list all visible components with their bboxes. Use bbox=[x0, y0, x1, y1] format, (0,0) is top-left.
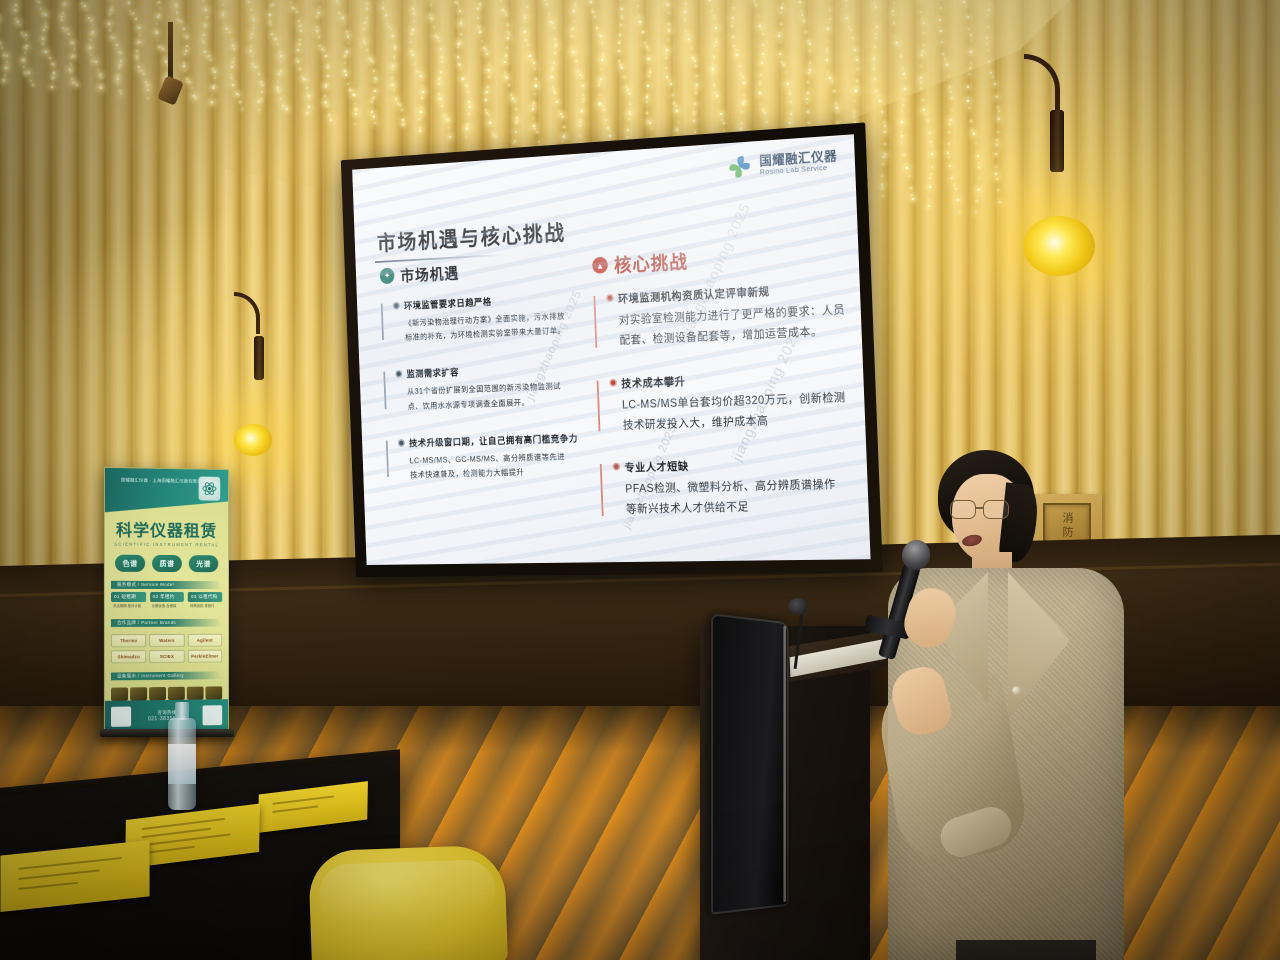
slide-title: 市场机遇与核心挑战 bbox=[376, 216, 566, 257]
banner-step-cap: 02 年租约 bbox=[150, 592, 184, 602]
banner-section-label-gallery: 设备展示 / Instrument Gallery bbox=[111, 671, 222, 680]
conference-room-photo: 消防栓箱 国耀融汇仪器 Rosino Lab Service 市场机遇与核心挑战 bbox=[0, 0, 1280, 960]
gallery-cell bbox=[206, 686, 223, 699]
banner-service-steps: 01 短租期 灵活周期 按月计费 02 年租约 长期优惠 含维保 03 以租代购… bbox=[105, 592, 228, 610]
banner-company-line: 国耀融汇仪器 · 上海国耀融汇仪器有限公司 bbox=[121, 477, 206, 484]
banner-section-text: 合作品牌 / Partner Brands bbox=[111, 620, 176, 626]
bullet-title: 环境监测机构资质认定评审新规 bbox=[618, 283, 770, 306]
brand-logo: SCIEX bbox=[149, 650, 184, 663]
bottle-label bbox=[168, 744, 196, 784]
list-item: 技术成本攀升 LC-MS/MS单台套均价超320万元，创新检测 技术研发投入大，… bbox=[596, 366, 851, 437]
banner-step-cap: 03 以租代购 bbox=[188, 592, 222, 602]
brand-logo: PerkinElmer bbox=[187, 649, 222, 662]
yellow-chair-icon bbox=[308, 845, 508, 960]
gallery-cell bbox=[168, 687, 185, 700]
lens-right bbox=[983, 500, 1009, 519]
banner-brand-logos: Thermo Waters Agilent Shimadzu SCIEX Per… bbox=[105, 630, 228, 664]
bullet-dot-icon bbox=[606, 294, 614, 302]
bullet-dot-icon bbox=[395, 370, 402, 378]
sconce-stem bbox=[1050, 110, 1064, 172]
banner-step-text: 长期优惠 含维保 bbox=[150, 602, 184, 610]
bullet-dot-icon bbox=[612, 463, 620, 471]
brand-logo: Thermo bbox=[111, 634, 146, 647]
bullet-title: 技术升级窗口期，让自己拥有高门槛竞争力 bbox=[409, 431, 578, 449]
gallery-cell bbox=[149, 687, 166, 700]
list-item: 专业人才短缺 PFAS检测、微塑料分析、高分辨质谱操作 等新兴技术人才供给不足 bbox=[600, 454, 856, 522]
presentation-slide[interactable]: 国耀融汇仪器 Rosino Lab Service 市场机遇与核心挑战 ✦ 市场… bbox=[352, 134, 870, 565]
banner-section-label-brands: 合作品牌 / Partner Brands bbox=[111, 619, 222, 627]
banner-pill-massspec: 质谱 bbox=[152, 555, 182, 572]
gallery-cell bbox=[111, 687, 128, 700]
gallery-cell bbox=[130, 687, 147, 700]
slide-columns: ✦ 市场机遇 环境监管要求日趋严格 《新污染物治理行动方案》全面实施，污水排放 … bbox=[356, 238, 870, 548]
gooseneck-microphone-icon bbox=[788, 598, 810, 650]
logo-text-block: 国耀融汇仪器 Rosino Lab Service bbox=[759, 150, 838, 176]
list-item: 环境监管要求日趋严格 《新污染物治理行动方案》全面实施，污水排放 标准的补充，为… bbox=[381, 290, 579, 346]
banner-pill-chromatography: 色谱 bbox=[115, 555, 145, 572]
section-heading-challenges: ▲ 核心挑战 bbox=[592, 239, 846, 279]
bullet-line: 等新兴技术人才供给不足 bbox=[614, 496, 855, 521]
banner-step: 01 短租期 灵活周期 按月计费 bbox=[111, 592, 146, 610]
bullet-title: 监测需求扩容 bbox=[406, 365, 459, 380]
banner-step-text: 转购抵扣 零首付 bbox=[188, 602, 222, 610]
eyeglasses-icon bbox=[950, 500, 1022, 520]
section-title-left: 市场机遇 bbox=[400, 260, 460, 286]
atom-logo-icon bbox=[199, 477, 221, 501]
bullet-title: 环境监管要求日趋严格 bbox=[404, 294, 492, 312]
banner-stand-base bbox=[100, 729, 234, 737]
banner-step-cap: 01 短租期 bbox=[111, 592, 146, 602]
pinwheel-logo-icon bbox=[725, 151, 754, 182]
bullet-dot-icon bbox=[609, 378, 617, 386]
mic-head bbox=[788, 598, 808, 615]
bullet-dot-icon bbox=[398, 439, 405, 447]
warning-triangle-icon: ▲ bbox=[592, 257, 608, 274]
lapel-pin bbox=[1012, 686, 1021, 695]
banner-title: 科学仪器租赁 bbox=[105, 516, 228, 541]
bullet-heading: 技术成本攀升 bbox=[609, 366, 850, 391]
list-item: 监测需求扩容 从31个省份扩展到全国范围的新污染物监测试 点、饮用水水源专项调查… bbox=[383, 360, 581, 414]
slide-column-challenges: ▲ 核心挑战 环境监测机构资质认定评审新规 对实验室检测能力进行了更严格的要求：… bbox=[583, 238, 870, 545]
banner-step: 02 年租约 长期优惠 含维保 bbox=[150, 592, 184, 610]
brand-logo: Shimadzu bbox=[111, 650, 146, 663]
bullet-title: 技术成本攀升 bbox=[621, 373, 686, 391]
slide-column-opportunities: ✦ 市场机遇 环境监管要求日趋严格 《新污染物治理行动方案》全面实施，污水排放 … bbox=[356, 253, 594, 548]
slide-logo: 国耀融汇仪器 Rosino Lab Service bbox=[725, 145, 838, 182]
list-item: 环境监测机构资质认定评审新规 对实验室检测能力进行了更严格的要求：人员 配套、检… bbox=[593, 279, 848, 353]
section-title-right: 核心挑战 bbox=[614, 247, 689, 277]
sconce-globe bbox=[234, 424, 272, 456]
speaker-person bbox=[860, 440, 1130, 960]
banner-category-pills: 色谱 质谱 光谱 bbox=[105, 555, 228, 573]
list-item: 技术升级窗口期，让自己拥有高门槛竞争力 LC-MS/MS、GC-MS/MS、高分… bbox=[386, 431, 584, 483]
bullet-heading: 专业人才短缺 bbox=[612, 454, 853, 476]
banner-section-text: 设备展示 / Instrument Gallery bbox=[111, 673, 184, 680]
roll-up-banner: 国耀融汇仪器 · 上海国耀融汇仪器有限公司 科学仪器租赁 SCIENTIFIC … bbox=[104, 467, 229, 734]
banner-subtitle: SCIENTIFIC INSTRUMENT RENTAL bbox=[105, 542, 228, 548]
banner-step: 03 以租代购 转购抵扣 零首付 bbox=[188, 592, 222, 610]
qr-code-icon bbox=[203, 705, 223, 725]
gallery-cell bbox=[187, 686, 204, 699]
bullet-title: 专业人才短缺 bbox=[624, 458, 689, 475]
spotlight-icon bbox=[168, 22, 173, 82]
banner-section-label-service: 服务模式 / Service Model bbox=[111, 581, 222, 589]
sconce-stem bbox=[254, 336, 264, 380]
brand-logo: Agilent bbox=[187, 634, 222, 647]
sconce-globe bbox=[1023, 216, 1095, 276]
banner-step-text: 灵活周期 按月计费 bbox=[111, 602, 146, 610]
seal-icon bbox=[111, 707, 131, 727]
bullet-dot-icon bbox=[393, 302, 400, 310]
brand-logo: Waters bbox=[149, 634, 184, 647]
bullet-heading: 监测需求扩容 bbox=[395, 360, 580, 381]
water-bottle-icon bbox=[168, 718, 196, 810]
banner-header: 国耀融汇仪器 · 上海国耀融汇仪器有限公司 bbox=[105, 468, 228, 514]
projection-screen-frame: 国耀融汇仪器 Rosino Lab Service 市场机遇与核心挑战 ✦ 市场… bbox=[341, 122, 883, 577]
trousers bbox=[956, 940, 1096, 960]
lens-left bbox=[950, 500, 976, 519]
bullet-heading: 技术升级窗口期，让自己拥有高门槛竞争力 bbox=[398, 431, 583, 450]
banner-section-text: 服务模式 / Service Model bbox=[111, 582, 174, 588]
leaf-icon: ✦ bbox=[380, 267, 395, 284]
confidence-monitor-icon bbox=[711, 613, 788, 914]
banner-pill-spectroscopy: 光谱 bbox=[189, 555, 218, 572]
